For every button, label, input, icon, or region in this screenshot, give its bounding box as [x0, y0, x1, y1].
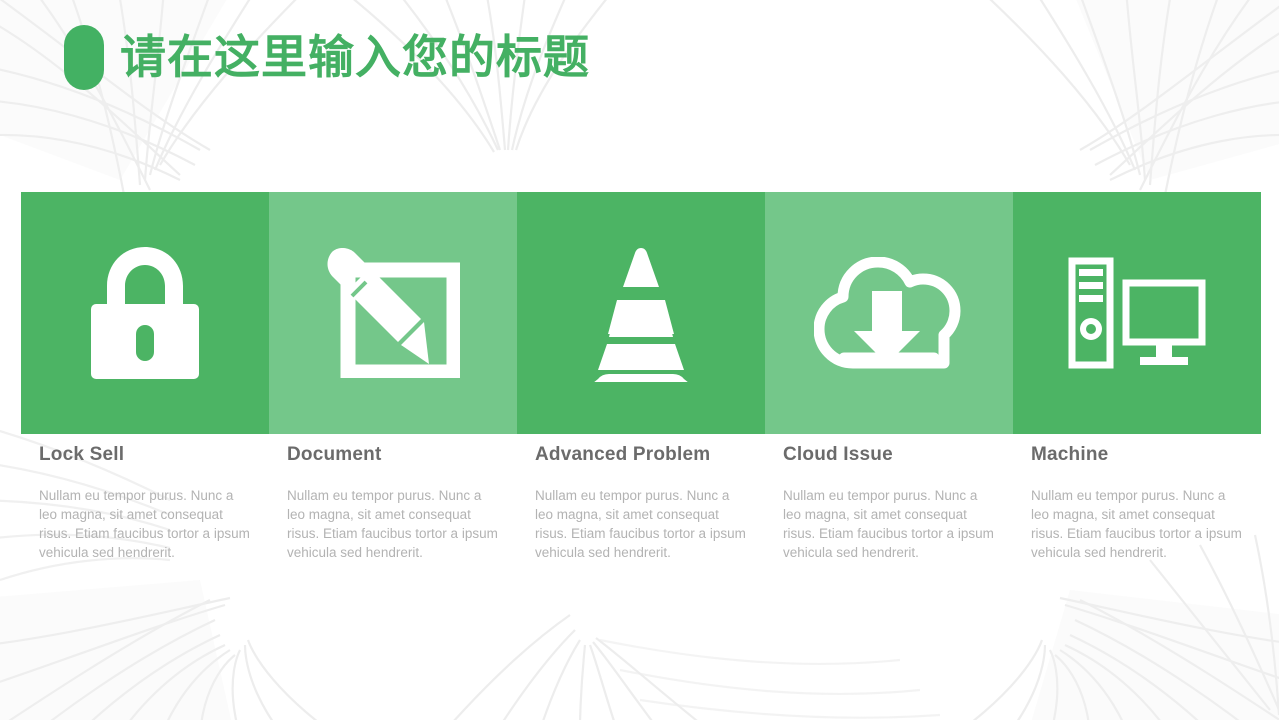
card-body: Nullam eu tempor purus. Nunc a leo magna…	[39, 486, 251, 562]
desktop-computer-icon	[1068, 257, 1206, 369]
icon-cell-machine[interactable]	[1013, 192, 1261, 434]
card-text-row: Lock Sell Nullam eu tempor purus. Nunc a…	[21, 444, 1261, 604]
icon-cell-advanced-problem[interactable]	[517, 192, 765, 434]
icon-cell-document[interactable]	[269, 192, 517, 434]
card-heading: Advanced Problem	[535, 444, 749, 466]
card-heading: Document	[287, 444, 501, 466]
card-heading: Machine	[1031, 444, 1245, 466]
card-heading: Lock Sell	[39, 444, 253, 466]
page-title: 请在这里输入您的标题	[120, 24, 590, 90]
card-text-document: Document Nullam eu tempor purus. Nunc a …	[269, 444, 517, 604]
card-body: Nullam eu tempor purus. Nunc a leo magna…	[1031, 486, 1243, 562]
icon-band	[21, 192, 1261, 434]
traffic-cone-icon	[580, 244, 702, 382]
card-body: Nullam eu tempor purus. Nunc a leo magna…	[535, 486, 747, 562]
cloud-download-icon	[814, 257, 964, 369]
pill-bullet-icon	[64, 25, 104, 90]
card-heading: Cloud Issue	[783, 444, 997, 466]
card-text-cloud-issue: Cloud Issue Nullam eu tempor purus. Nunc…	[765, 444, 1013, 604]
lock-icon	[89, 247, 201, 379]
icon-cell-lock-sell[interactable]	[21, 192, 269, 434]
card-text-advanced-problem: Advanced Problem Nullam eu tempor purus.…	[517, 444, 765, 604]
card-text-machine: Machine Nullam eu tempor purus. Nunc a l…	[1013, 444, 1261, 604]
card-body: Nullam eu tempor purus. Nunc a leo magna…	[287, 486, 499, 562]
card-text-lock-sell: Lock Sell Nullam eu tempor purus. Nunc a…	[21, 444, 269, 604]
icon-cell-cloud-issue[interactable]	[765, 192, 1013, 434]
pencil-square-icon	[326, 248, 460, 378]
card-body: Nullam eu tempor purus. Nunc a leo magna…	[783, 486, 995, 562]
slide-header: 请在这里输入您的标题	[0, 0, 1279, 120]
